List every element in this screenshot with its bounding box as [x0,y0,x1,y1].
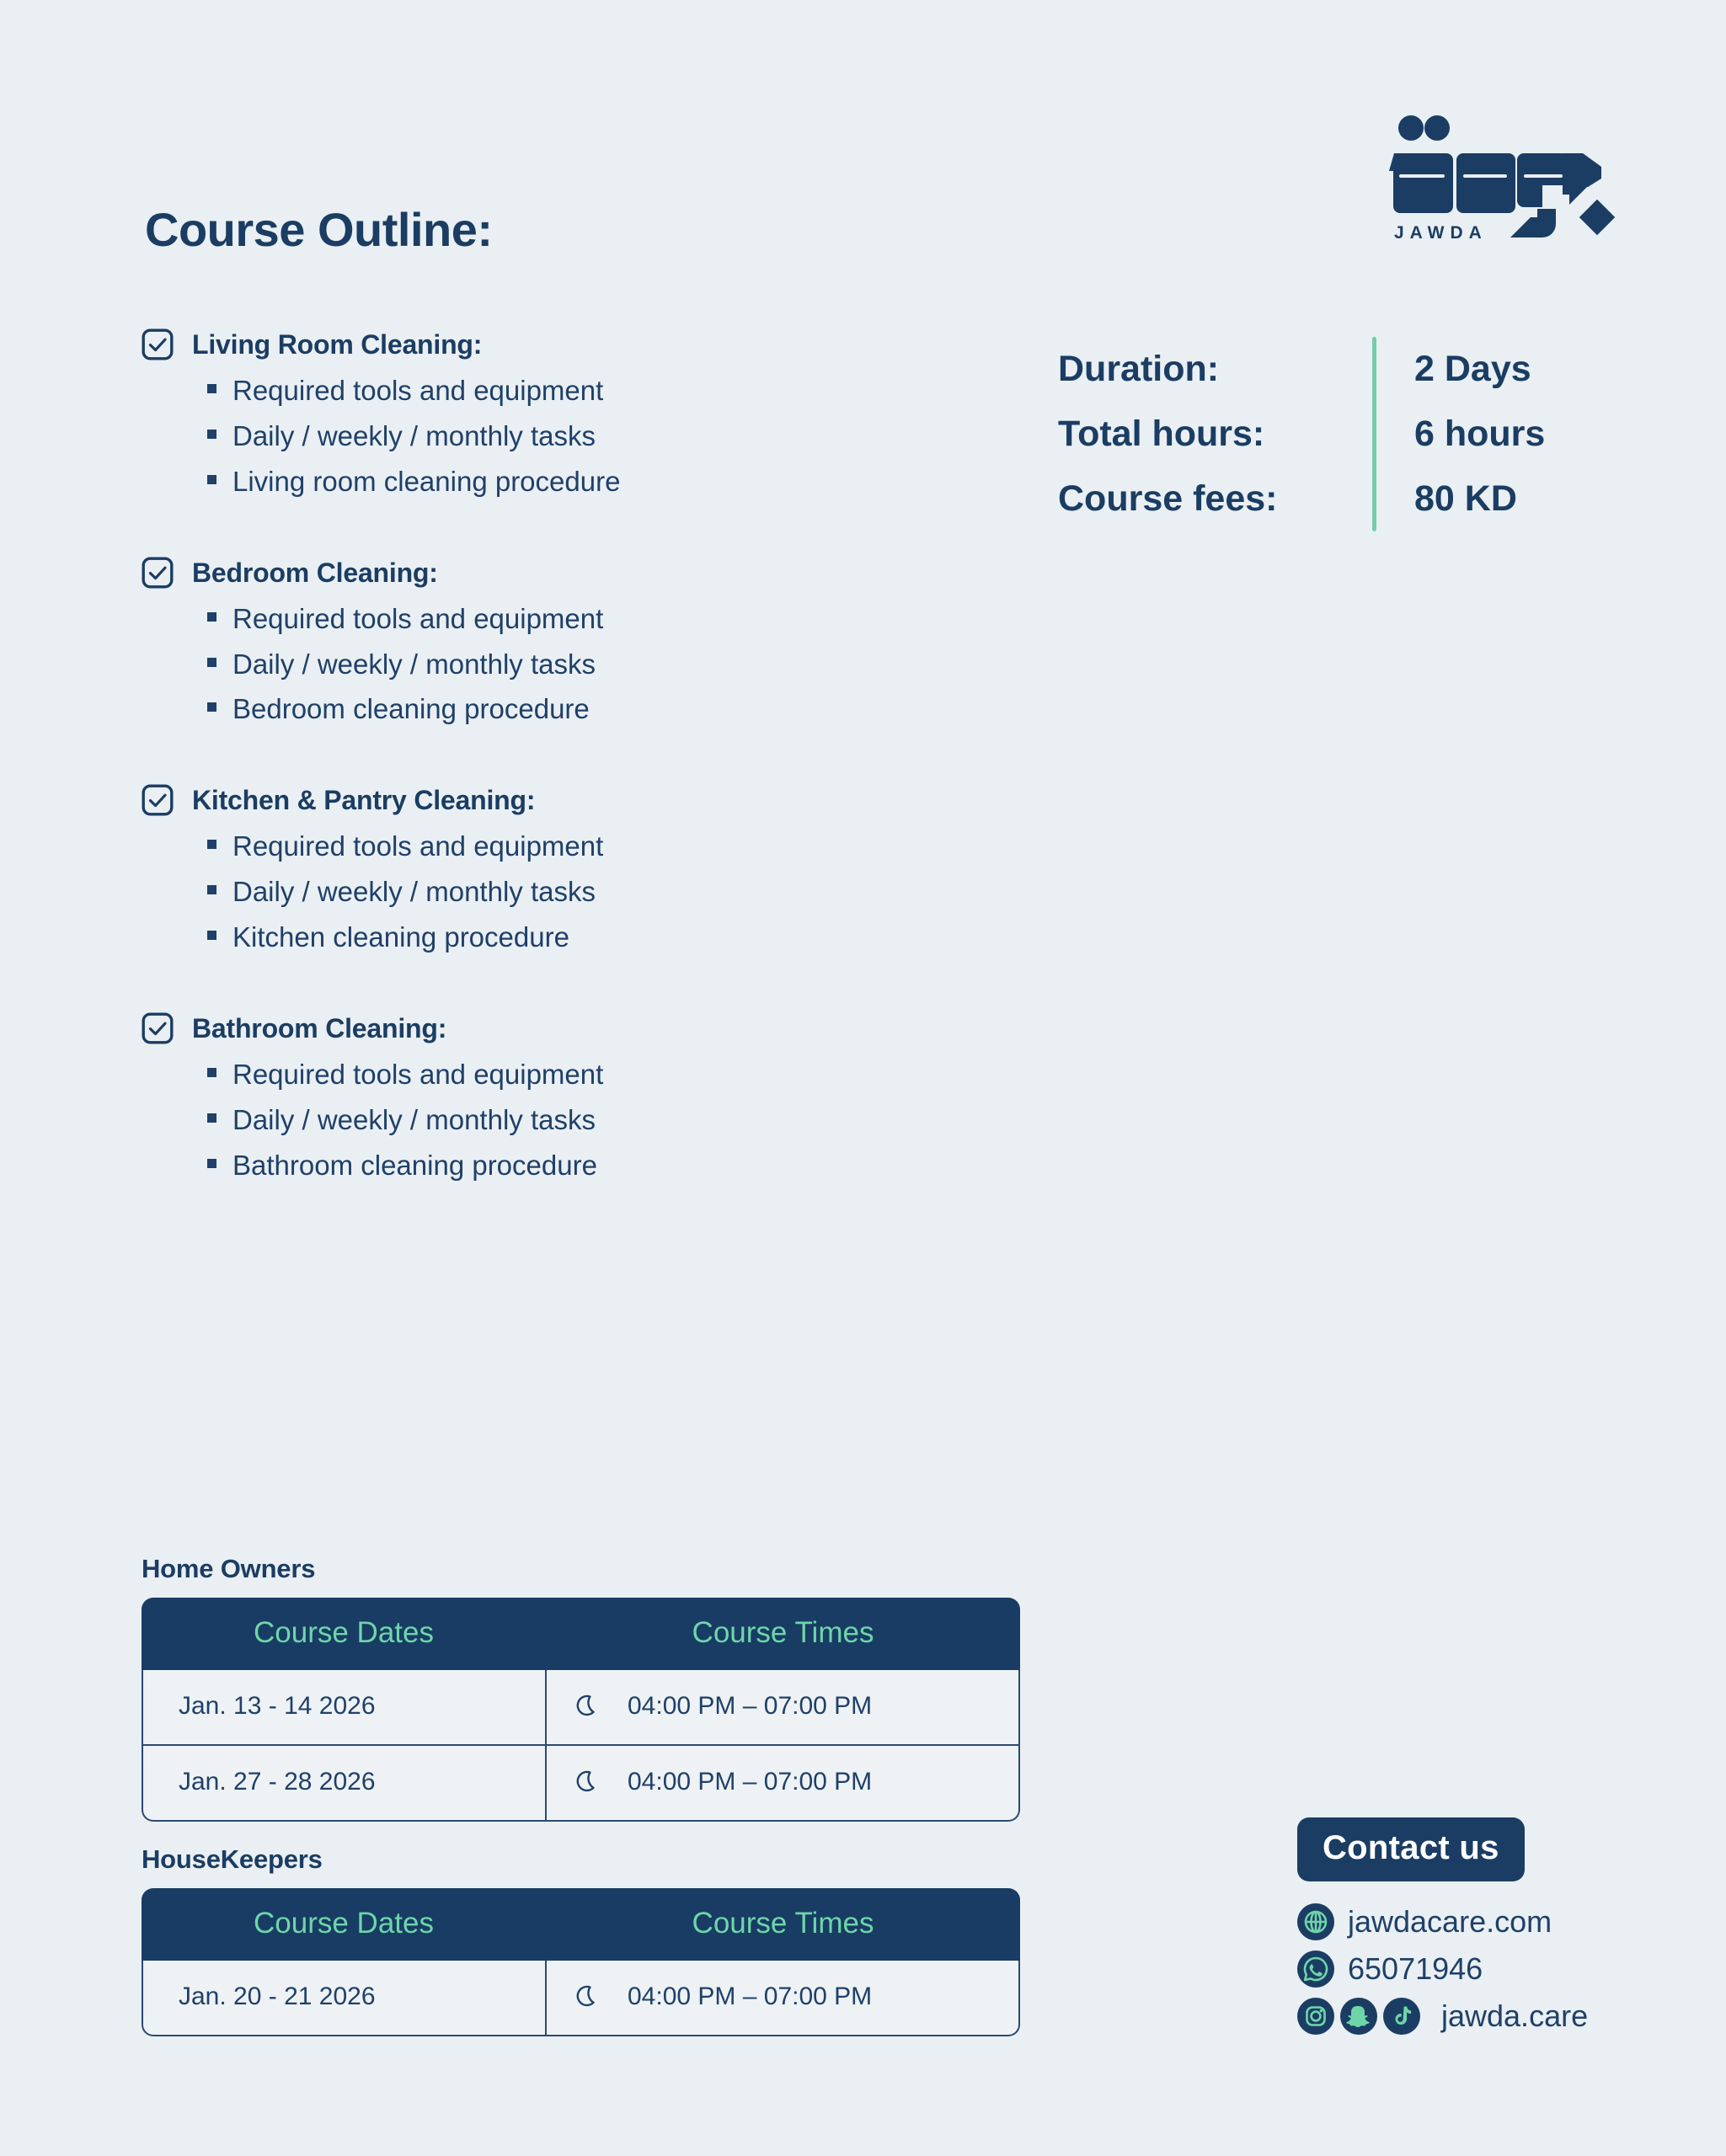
info-value-total-hours: 6 hours [1414,402,1545,467]
square-bullet-icon [207,885,216,894]
list-item-label: Living room cleaning procedure [232,463,620,501]
list-item: Daily / weekly / monthly tasks [207,646,984,684]
time-value-wrap: 04:00 PM – 07:00 PM [575,1983,1018,2011]
info-value-course-fees: 80 KD [1414,467,1545,531]
square-bullet-icon [207,1068,216,1077]
section-title: Kitchen & Pantry Cleaning: [192,787,535,814]
crescent-moon-icon [575,1769,602,1796]
phone-text: 65071946 [1348,1954,1483,1984]
table-caption-home-owners: Home Owners [142,1554,1020,1584]
time-value-wrap: 04:00 PM – 07:00 PM [575,1768,1018,1796]
course-info-block: Duration: Total hours: Course fees: 2 Da… [1058,337,1545,531]
section-header: Bathroom Cleaning: [142,1012,984,1044]
info-divider [1372,337,1376,531]
list-item-label: Required tools and equipment [232,1056,603,1094]
cell-course-time: 04:00 PM – 07:00 PM [546,1670,1020,1746]
list-item: Required tools and equipment [207,828,984,866]
section-title: Bedroom Cleaning: [192,559,438,586]
cell-course-time: 04:00 PM – 07:00 PM [546,1961,1020,2036]
table-header-row: Course Dates Course Times [142,1598,1020,1670]
checkbox-checked-icon [142,1012,174,1044]
cell-course-date: Jan. 27 - 28 2026 [142,1746,546,1822]
square-bullet-icon [207,931,216,940]
course-info-labels: Duration: Total hours: Course fees: [1058,337,1372,531]
time-text: 04:00 PM – 07:00 PM [628,1983,872,2011]
contact-rows: jawdacare.com 65071946 [1297,1903,1634,2035]
column-header-course-times: Course Times [546,1598,1020,1670]
column-header-course-dates: Course Dates [142,1598,546,1670]
social-handle-text: jawda.care [1441,2001,1588,2031]
table-row: Jan. 20 - 21 2026 04:00 PM – 07:00 PM [142,1961,1020,2036]
section-living-room: Living Room Cleaning: Required tools and… [142,328,984,501]
checkbox-checked-icon [142,784,174,816]
square-bullet-icon [207,430,216,439]
section-kitchen-pantry: Kitchen & Pantry Cleaning: Required tool… [142,784,984,957]
home-owners-schedule: Home Owners Course Dates Course Times Ja… [142,1554,1020,1822]
info-label-course-fees: Course fees: [1058,467,1372,531]
list-item-label: Bedroom cleaning procedure [232,691,590,728]
contact-us-badge: Contact us [1297,1817,1525,1881]
square-bullet-icon [207,612,216,622]
column-header-course-dates: Course Dates [142,1888,546,1961]
section-item-list: Required tools and equipment Daily / wee… [207,828,984,957]
globe-icon [1297,1903,1334,1940]
list-item: Bedroom cleaning procedure [207,691,984,728]
course-info-values: 2 Days 6 hours 80 KD [1414,337,1545,531]
square-bullet-icon [207,384,216,393]
list-item-label: Daily / weekly / monthly tasks [232,418,596,456]
section-header: Bedroom Cleaning: [142,557,984,589]
list-item-label: Kitchen cleaning procedure [232,919,569,957]
section-bathroom: Bathroom Cleaning: Required tools and eq… [142,1012,984,1185]
checkbox-checked-icon [142,557,174,589]
section-header: Kitchen & Pantry Cleaning: [142,784,984,816]
section-title: Living Room Cleaning: [192,331,482,358]
snapchat-icon[interactable] [1340,1998,1377,2035]
table-body: Jan. 20 - 21 2026 04:00 PM – 07:00 PM [142,1961,1020,2036]
table-caption-housekeepers: HouseKeepers [142,1844,1020,1875]
list-item-label: Bathroom cleaning procedure [232,1147,597,1185]
info-label-duration: Duration: [1058,337,1372,402]
table-header: Course Dates Course Times [142,1888,1020,1961]
svg-text:JAWDA: JAWDA [1394,223,1488,242]
cell-course-date: Jan. 13 - 14 2026 [142,1670,546,1746]
contact-row-social[interactable]: jawda.care [1297,1998,1634,2035]
website-text: jawdacare.com [1348,1907,1552,1937]
list-item-label: Daily / weekly / monthly tasks [232,646,596,684]
course-outline-page: JAWDA Course Outline: Living Room Cleani… [0,0,1726,2156]
section-header: Living Room Cleaning: [142,328,984,360]
table-header: Course Dates Course Times [142,1598,1020,1670]
schedule-table: Course Dates Course Times Jan. 20 - 21 2… [142,1888,1020,2036]
housekeepers-schedule: HouseKeepers Course Dates Course Times J… [142,1844,1020,2036]
list-item: Living room cleaning procedure [207,463,984,501]
list-item: Bathroom cleaning procedure [207,1147,984,1185]
contact-row-website[interactable]: jawdacare.com [1297,1903,1634,1940]
tiktok-icon[interactable] [1383,1998,1420,2035]
schedule-table: Course Dates Course Times Jan. 13 - 14 2… [142,1598,1020,1822]
table-row: Jan. 27 - 28 2026 04:00 PM – 07:00 PM [142,1746,1020,1822]
list-item-label: Daily / weekly / monthly tasks [232,1102,596,1139]
list-item: Required tools and equipment [207,372,984,410]
crescent-moon-icon [575,1693,602,1720]
square-bullet-icon [207,1159,216,1168]
checkbox-checked-icon [142,328,174,360]
contact-row-phone[interactable]: 65071946 [1297,1951,1634,1988]
section-title: Bathroom Cleaning: [192,1015,446,1042]
page-title: Course Outline: [145,202,493,257]
course-outline-checklist: Living Room Cleaning: Required tools and… [142,328,984,1193]
section-item-list: Required tools and equipment Daily / wee… [207,372,984,501]
contact-section: Contact us jawdacare.com 650719 [1297,1817,1634,2045]
info-value-duration: 2 Days [1414,337,1545,402]
whatsapp-icon [1297,1951,1334,1988]
section-bedroom: Bedroom Cleaning: Required tools and equ… [142,557,984,729]
cell-course-time: 04:00 PM – 07:00 PM [546,1746,1020,1822]
jawda-logo-mark: JAWDA [1389,114,1616,242]
list-item: Kitchen cleaning procedure [207,919,984,957]
column-header-course-times: Course Times [546,1888,1020,1961]
info-label-total-hours: Total hours: [1058,402,1372,467]
table-header-row: Course Dates Course Times [142,1888,1020,1961]
square-bullet-icon [207,658,216,667]
table-body: Jan. 13 - 14 2026 04:00 PM – 07:00 PM Ja… [142,1670,1020,1822]
square-bullet-icon [207,702,216,712]
list-item-label: Daily / weekly / monthly tasks [232,873,596,911]
list-item-label: Required tools and equipment [232,372,603,410]
list-item-label: Required tools and equipment [232,828,603,866]
time-text: 04:00 PM – 07:00 PM [628,1692,872,1721]
list-item: Required tools and equipment [207,1056,984,1094]
square-bullet-icon [207,1113,216,1123]
instagram-icon[interactable] [1297,1998,1334,2035]
list-item: Daily / weekly / monthly tasks [207,873,984,911]
list-item-label: Required tools and equipment [232,600,603,638]
section-item-list: Required tools and equipment Daily / wee… [207,1056,984,1185]
section-item-list: Required tools and equipment Daily / wee… [207,600,984,729]
cell-course-date: Jan. 20 - 21 2026 [142,1961,546,2036]
square-bullet-icon [207,475,216,484]
jawda-logo: JAWDA [1389,114,1616,240]
list-item: Daily / weekly / monthly tasks [207,1102,984,1139]
time-value-wrap: 04:00 PM – 07:00 PM [575,1692,1018,1721]
table-row: Jan. 13 - 14 2026 04:00 PM – 07:00 PM [142,1670,1020,1746]
crescent-moon-icon [575,1983,602,2010]
list-item: Required tools and equipment [207,600,984,638]
social-icon-group [1297,1998,1420,2035]
list-item: Daily / weekly / monthly tasks [207,418,984,456]
time-text: 04:00 PM – 07:00 PM [628,1768,872,1796]
square-bullet-icon [207,840,216,849]
